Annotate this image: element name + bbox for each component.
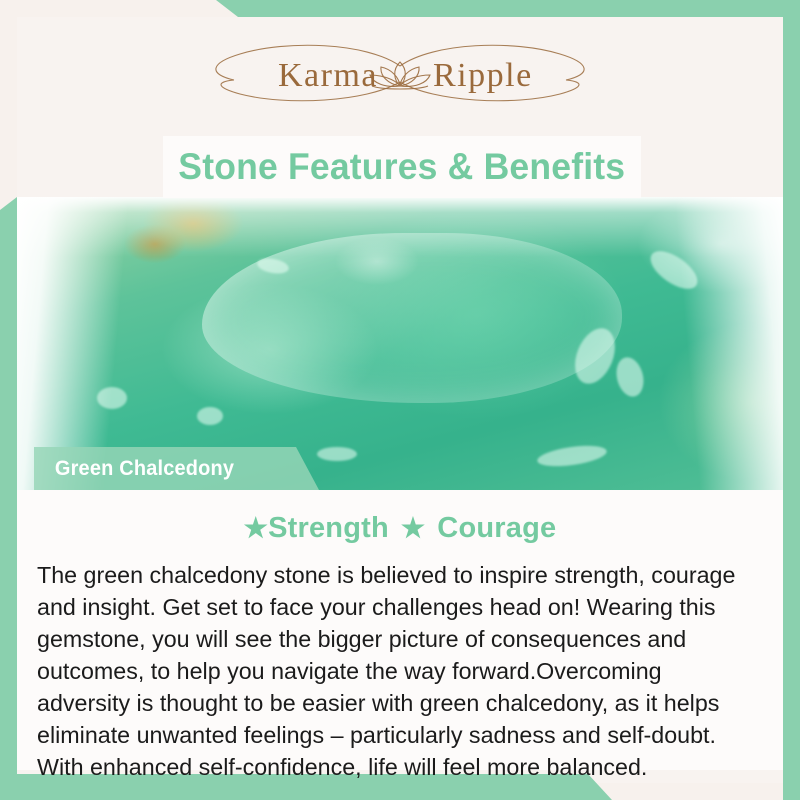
stone-caption-banner: Green Chalcedony <box>34 447 319 490</box>
photo-fade-right <box>653 197 783 490</box>
stone-highlight <box>613 354 648 399</box>
gemstone-photo: Green Chalcedony <box>17 197 783 490</box>
description-card: ★Strength★Courage The green chalcedony s… <box>17 490 783 770</box>
stone-highlight <box>317 447 357 461</box>
star-icon: ★ <box>244 513 268 543</box>
star-icon: ★ <box>401 513 425 543</box>
description-paragraph: The green chalcedony stone is believed t… <box>37 559 756 783</box>
keyword-courage: Courage <box>437 512 556 544</box>
mint-accent-top <box>212 0 800 17</box>
logo-artwork: Karma Ripple <box>190 36 610 114</box>
brand-name-right: Ripple <box>433 57 533 94</box>
poster-canvas: Karma Ripple Stone Features & Benefits G… <box>0 0 800 800</box>
brand-name-left: Karma <box>278 57 378 94</box>
page-title: Stone Features & Benefits <box>179 146 626 188</box>
photo-fade-left <box>17 197 167 490</box>
stone-highlight <box>197 407 223 425</box>
keyword-row: ★Strength★Courage <box>17 512 783 545</box>
lotus-flower-icon <box>370 62 430 89</box>
keyword-strength: Strength <box>268 512 389 544</box>
stone-name-label: Green Chalcedony <box>34 457 234 481</box>
mint-accent-right <box>783 0 800 800</box>
stone-highlight <box>536 442 608 470</box>
mint-accent-left <box>0 197 17 800</box>
title-plate: Stone Features & Benefits <box>163 136 641 198</box>
brand-logo: Karma Ripple <box>0 36 800 114</box>
